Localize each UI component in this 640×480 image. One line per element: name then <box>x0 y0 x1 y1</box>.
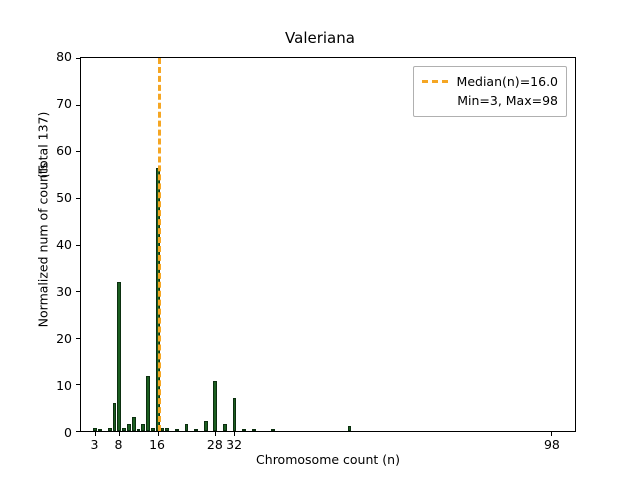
y-tick <box>76 431 81 432</box>
x-tick-label: 3 <box>90 437 98 452</box>
x-tick-label: 16 <box>149 437 165 452</box>
bar <box>348 426 352 431</box>
y-tick <box>76 245 81 246</box>
y-tick-label: 50 <box>46 190 72 205</box>
x-tick <box>95 431 96 436</box>
x-tick <box>158 431 159 436</box>
y-tick-label: 60 <box>46 143 72 158</box>
chart-legend: Median(n)=16.0 Min=3, Max=98 <box>413 66 567 117</box>
x-tick <box>234 431 235 436</box>
bar <box>175 429 179 431</box>
y-tick <box>76 151 81 152</box>
bar <box>165 428 169 431</box>
chart-title: Valeriana <box>0 29 640 47</box>
x-tick <box>215 431 216 436</box>
y-tick-label: 10 <box>46 378 72 393</box>
bar <box>122 428 126 431</box>
legend-label-median: Median(n)=16.0 <box>457 74 558 89</box>
bar <box>98 429 102 431</box>
y-tick <box>76 198 81 199</box>
y-tick-label: 80 <box>46 49 72 64</box>
bar <box>132 417 136 431</box>
bar <box>271 429 275 431</box>
bar <box>141 424 145 431</box>
y-tick-label: 0 <box>52 425 72 440</box>
x-tick <box>551 431 552 436</box>
x-axis-label: Chromosome count (n) <box>80 452 576 467</box>
y-tick <box>76 58 81 59</box>
bar <box>127 424 131 431</box>
median-line <box>158 58 161 431</box>
dashed-line-icon <box>422 80 448 83</box>
bar <box>242 429 246 431</box>
y-tick-label: 70 <box>46 96 72 111</box>
x-tick-label: 32 <box>226 437 242 452</box>
bar <box>194 429 198 431</box>
chart-figure: Valeriana Normalized num of counts (Tota… <box>0 0 640 480</box>
bar <box>151 428 155 431</box>
bar <box>117 282 121 431</box>
bar <box>204 421 208 431</box>
legend-entry-minmax: Min=3, Max=98 <box>422 91 558 110</box>
bar <box>213 381 217 431</box>
bar <box>146 376 150 431</box>
y-tick-label: 40 <box>46 237 72 252</box>
x-tick <box>119 431 120 436</box>
bar <box>233 398 237 431</box>
y-tick-label: 30 <box>46 284 72 299</box>
y-tick <box>76 384 81 385</box>
x-tick-label: 98 <box>544 437 560 452</box>
bar <box>252 429 256 431</box>
x-tick-label: 28 <box>207 437 223 452</box>
y-tick <box>76 105 81 106</box>
x-tick-label: 8 <box>115 437 123 452</box>
bar <box>108 428 112 431</box>
bar <box>223 424 227 431</box>
y-tick <box>76 338 81 339</box>
bar <box>185 424 189 431</box>
y-tick <box>76 291 81 292</box>
plot-axes: Median(n)=16.0 Min=3, Max=98 <box>80 57 576 432</box>
y-tick-label: 20 <box>46 331 72 346</box>
bar <box>113 403 117 431</box>
legend-entry-median: Median(n)=16.0 <box>422 72 558 91</box>
legend-label-minmax: Min=3, Max=98 <box>457 93 558 108</box>
bar <box>137 429 141 431</box>
bar <box>161 428 165 431</box>
